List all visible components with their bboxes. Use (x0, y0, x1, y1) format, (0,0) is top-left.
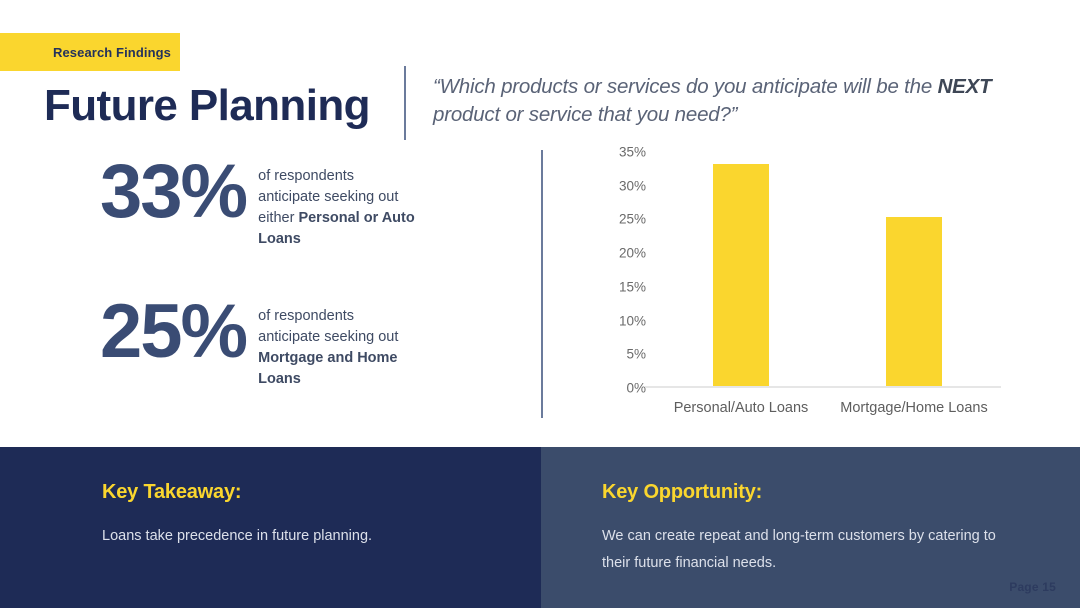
page-number: Page 15 (1009, 580, 1056, 594)
stat-line-1: of respondents (258, 308, 354, 324)
content-divider (541, 150, 543, 418)
bar-chart: 0%5%10%15%20%25%30%35% Personal/Auto Loa… (596, 152, 1006, 424)
page-title: Future Planning (44, 81, 370, 131)
chart-y-tick-label: 20% (600, 246, 646, 261)
chart-bar (713, 164, 769, 387)
stat-line-2: anticipate seeking out (258, 329, 398, 345)
chart-baseline (645, 386, 1001, 388)
key-opportunity-panel: Key Opportunity: We can create repeat an… (541, 447, 1080, 608)
stat-line-3-plain: either (258, 210, 298, 226)
stat-line-1: of respondents (258, 168, 354, 184)
stat-value: 33% (100, 157, 246, 227)
stat-block-mortgage-home: 25% of respondents anticipate seeking ou… (100, 297, 430, 390)
chart-y-tick-label: 10% (600, 313, 646, 328)
stat-line-2: anticipate seeking out (258, 189, 398, 205)
chart-y-tick-label: 25% (600, 212, 646, 227)
chart-x-tick-label: Personal/Auto Loans (674, 400, 809, 416)
header-divider (404, 66, 406, 140)
chart-y-tick-label: 5% (600, 347, 646, 362)
key-takeaway-body: Loans take precedence in future planning… (102, 523, 402, 550)
key-takeaway-heading: Key Takeaway: (102, 481, 241, 504)
key-opportunity-body: We can create repeat and long-term custo… (602, 523, 1002, 577)
chart-plot-area (645, 152, 1001, 388)
stat-line-3-bold: Mortgage and Home Loans (258, 350, 397, 387)
chart-y-axis: 0%5%10%15%20%25%30%35% (596, 152, 646, 388)
key-opportunity-heading: Key Opportunity: (602, 481, 762, 504)
stat-description: of respondents anticipate seeking out ei… (258, 166, 430, 250)
quote-part-1: “Which products or services do you antic… (433, 75, 938, 98)
eyebrow-badge: Research Findings (0, 33, 180, 71)
chart-y-tick-label: 35% (600, 145, 646, 160)
stat-block-personal-auto: 33% of respondents anticipate seeking ou… (100, 157, 430, 250)
chart-bar (886, 217, 942, 386)
chart-y-tick-label: 0% (600, 381, 646, 396)
stat-value: 25% (100, 297, 246, 367)
quote-part-2: product or service that you need?” (433, 103, 737, 126)
key-takeaway-panel: Key Takeaway: Loans take precedence in f… (0, 447, 541, 608)
slide: Research Findings Future Planning “Which… (0, 0, 1080, 608)
eyebrow-label: Research Findings (53, 45, 171, 60)
chart-y-tick-label: 30% (600, 178, 646, 193)
stat-description: of respondents anticipate seeking out Mo… (258, 306, 430, 390)
chart-x-tick-label: Mortgage/Home Loans (840, 400, 988, 416)
chart-x-axis: Personal/Auto LoansMortgage/Home Loans (645, 400, 1005, 422)
quote-emphasis: NEXT (938, 75, 992, 98)
chart-y-tick-label: 15% (600, 279, 646, 294)
research-question-quote: “Which products or services do you antic… (433, 73, 1013, 129)
